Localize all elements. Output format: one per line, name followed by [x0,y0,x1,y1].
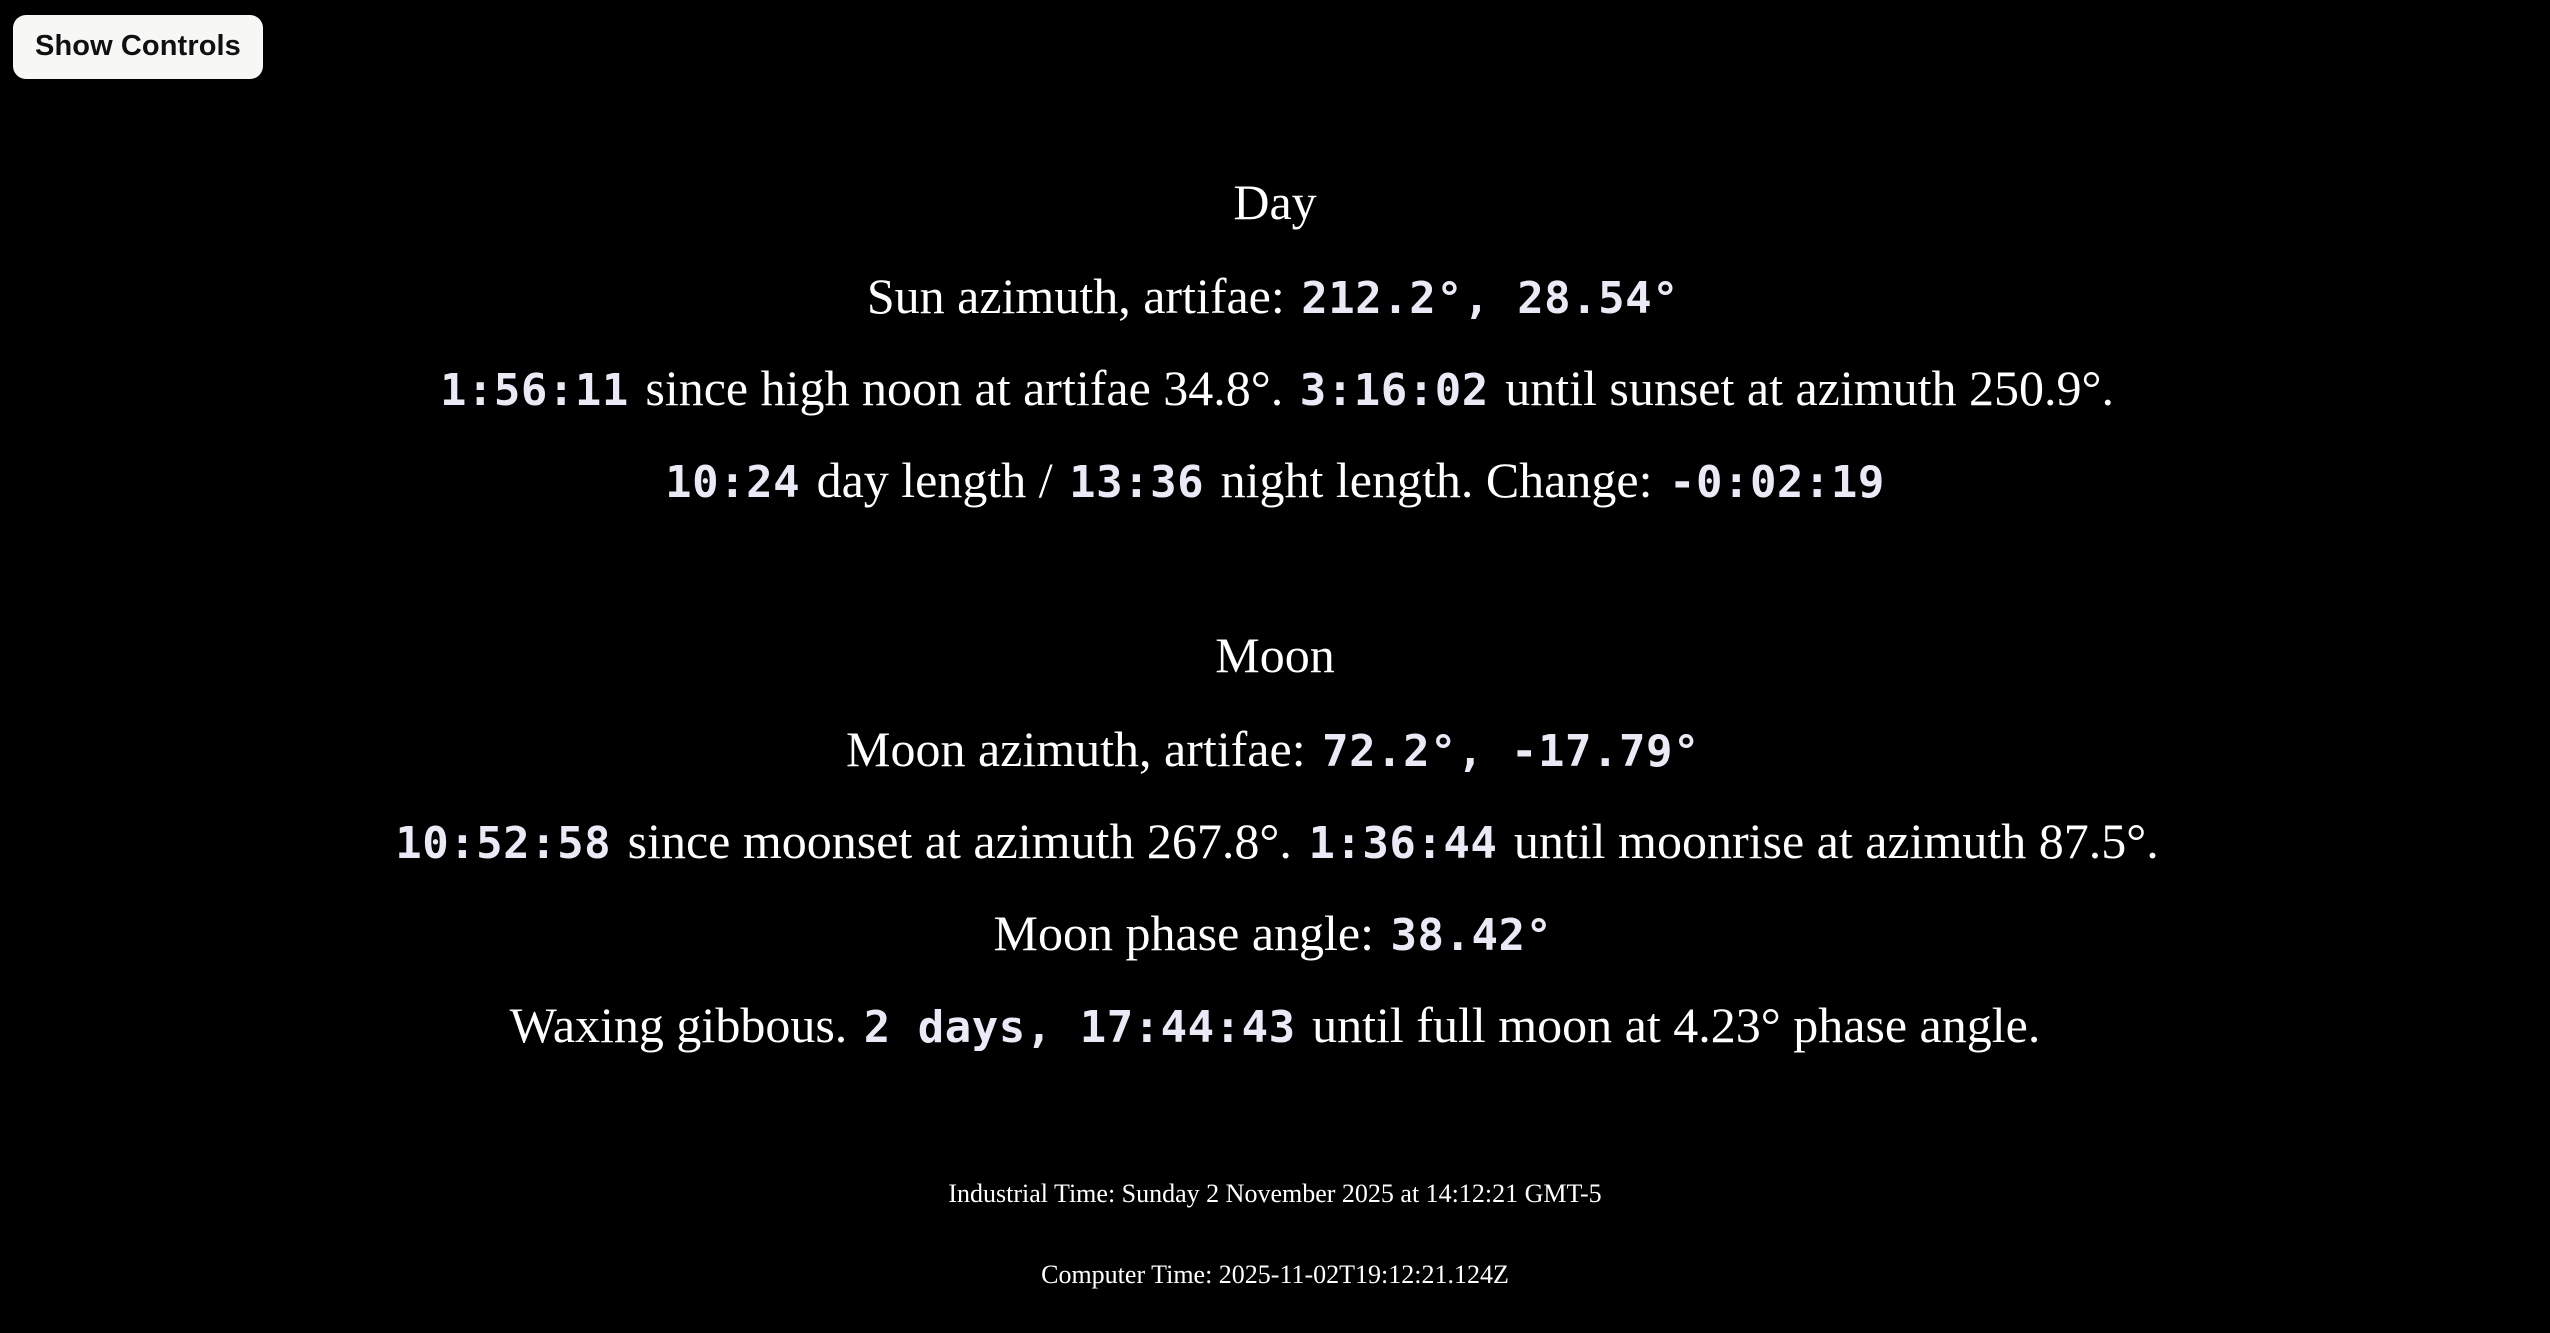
night-length-label: night length. Change: [1221,452,1653,508]
since-moonset-text: since moonset at azimuth 267.8°. [628,813,1292,869]
moon-phase-name: Waxing gibbous. [510,997,848,1053]
until-moonrise-text: until moonrise at azimuth 87.5°. [1514,813,2159,869]
moon-phase-angle-label: Moon phase angle: [994,905,1374,961]
moon-phase-angle-line: Moon phase angle: 38.42° [0,905,2550,961]
day-length-label: day length / [817,452,1053,508]
time-since-high-noon: 1:56:11 [436,365,633,416]
computer-time-line: Computer Time: 2025-11-02T19:12:21.124Z [0,1259,2550,1290]
moon-section: Moon Moon azimuth, artifae: 72.2°, -17.7… [0,628,2550,1053]
until-full-moon-text: until full moon at 4.23° phase angle. [1312,997,2040,1053]
day-section: Day Sun azimuth, artifae: 212.2°, 28.54°… [0,175,2550,508]
moon-azimuth-label: Moon azimuth, artifae: [846,721,1306,777]
moon-phase-name-line: Waxing gibbous. 2 days, 17:44:43 until f… [0,997,2550,1053]
astronomy-readout: Day Sun azimuth, artifae: 212.2°, 28.54°… [0,0,2550,1290]
time-footer: Industrial Time: Sunday 2 November 2025 … [0,1178,2550,1290]
time-until-sunset: 3:16:02 [1296,365,1493,416]
day-length-change-value: -0:02:19 [1665,457,1889,508]
until-sunset-text: until sunset at azimuth 250.9°. [1505,360,2114,416]
time-until-full-moon: 2 days, 17:44:43 [860,1002,1300,1053]
time-until-moonrise: 1:36:44 [1304,818,1501,869]
moon-section-title: Moon [0,628,2550,683]
sun-azimuth-label: Sun azimuth, artifae: [867,268,1285,324]
moon-azimuth-value: 72.2°, -17.79° [1318,726,1704,777]
day-section-title: Day [0,175,2550,230]
night-length-value: 13:36 [1065,457,1208,508]
since-high-noon-text: since high noon at artifae 34.8°. [645,360,1283,416]
sun-azimuth-line: Sun azimuth, artifae: 212.2°, 28.54° [0,268,2550,324]
moonset-moonrise-line: 10:52:58 since moonset at azimuth 267.8°… [0,813,2550,869]
moon-azimuth-line: Moon azimuth, artifae: 72.2°, -17.79° [0,721,2550,777]
time-since-moonset: 10:52:58 [391,818,615,869]
sun-azimuth-value: 212.2°, 28.54° [1297,273,1683,324]
day-night-length-line: 10:24 day length / 13:36 night length. C… [0,452,2550,508]
moon-phase-angle-value: 38.42° [1387,910,1557,961]
day-length-value: 10:24 [661,457,804,508]
sun-noon-sunset-line: 1:56:11 since high noon at artifae 34.8°… [0,360,2550,416]
industrial-time-line: Industrial Time: Sunday 2 November 2025 … [0,1178,2550,1209]
